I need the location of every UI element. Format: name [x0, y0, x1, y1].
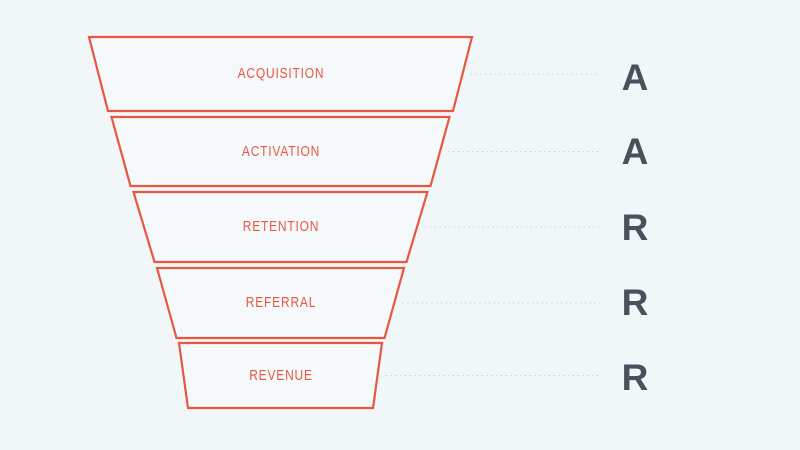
aarrr-letter-1: A — [615, 59, 655, 96]
aarrr-letter-4: R — [615, 284, 655, 321]
funnel-label-referral: REFERRAL — [161, 294, 401, 311]
aarrr-letter-3: R — [615, 209, 655, 246]
funnel-label-activation: ACTIVATION — [161, 143, 401, 160]
aarrr-letter-5: R — [615, 359, 655, 396]
funnel-label-revenue: REVENUE — [161, 367, 401, 384]
aarrr-letter-2: A — [615, 133, 655, 170]
funnel-label-retention: RETENTION — [161, 218, 401, 235]
funnel-diagram-canvas: ACQUISITIONACTIVATIONRETENTIONREFERRALRE… — [0, 0, 800, 450]
funnel-label-acquisition: ACQUISITION — [161, 65, 401, 82]
